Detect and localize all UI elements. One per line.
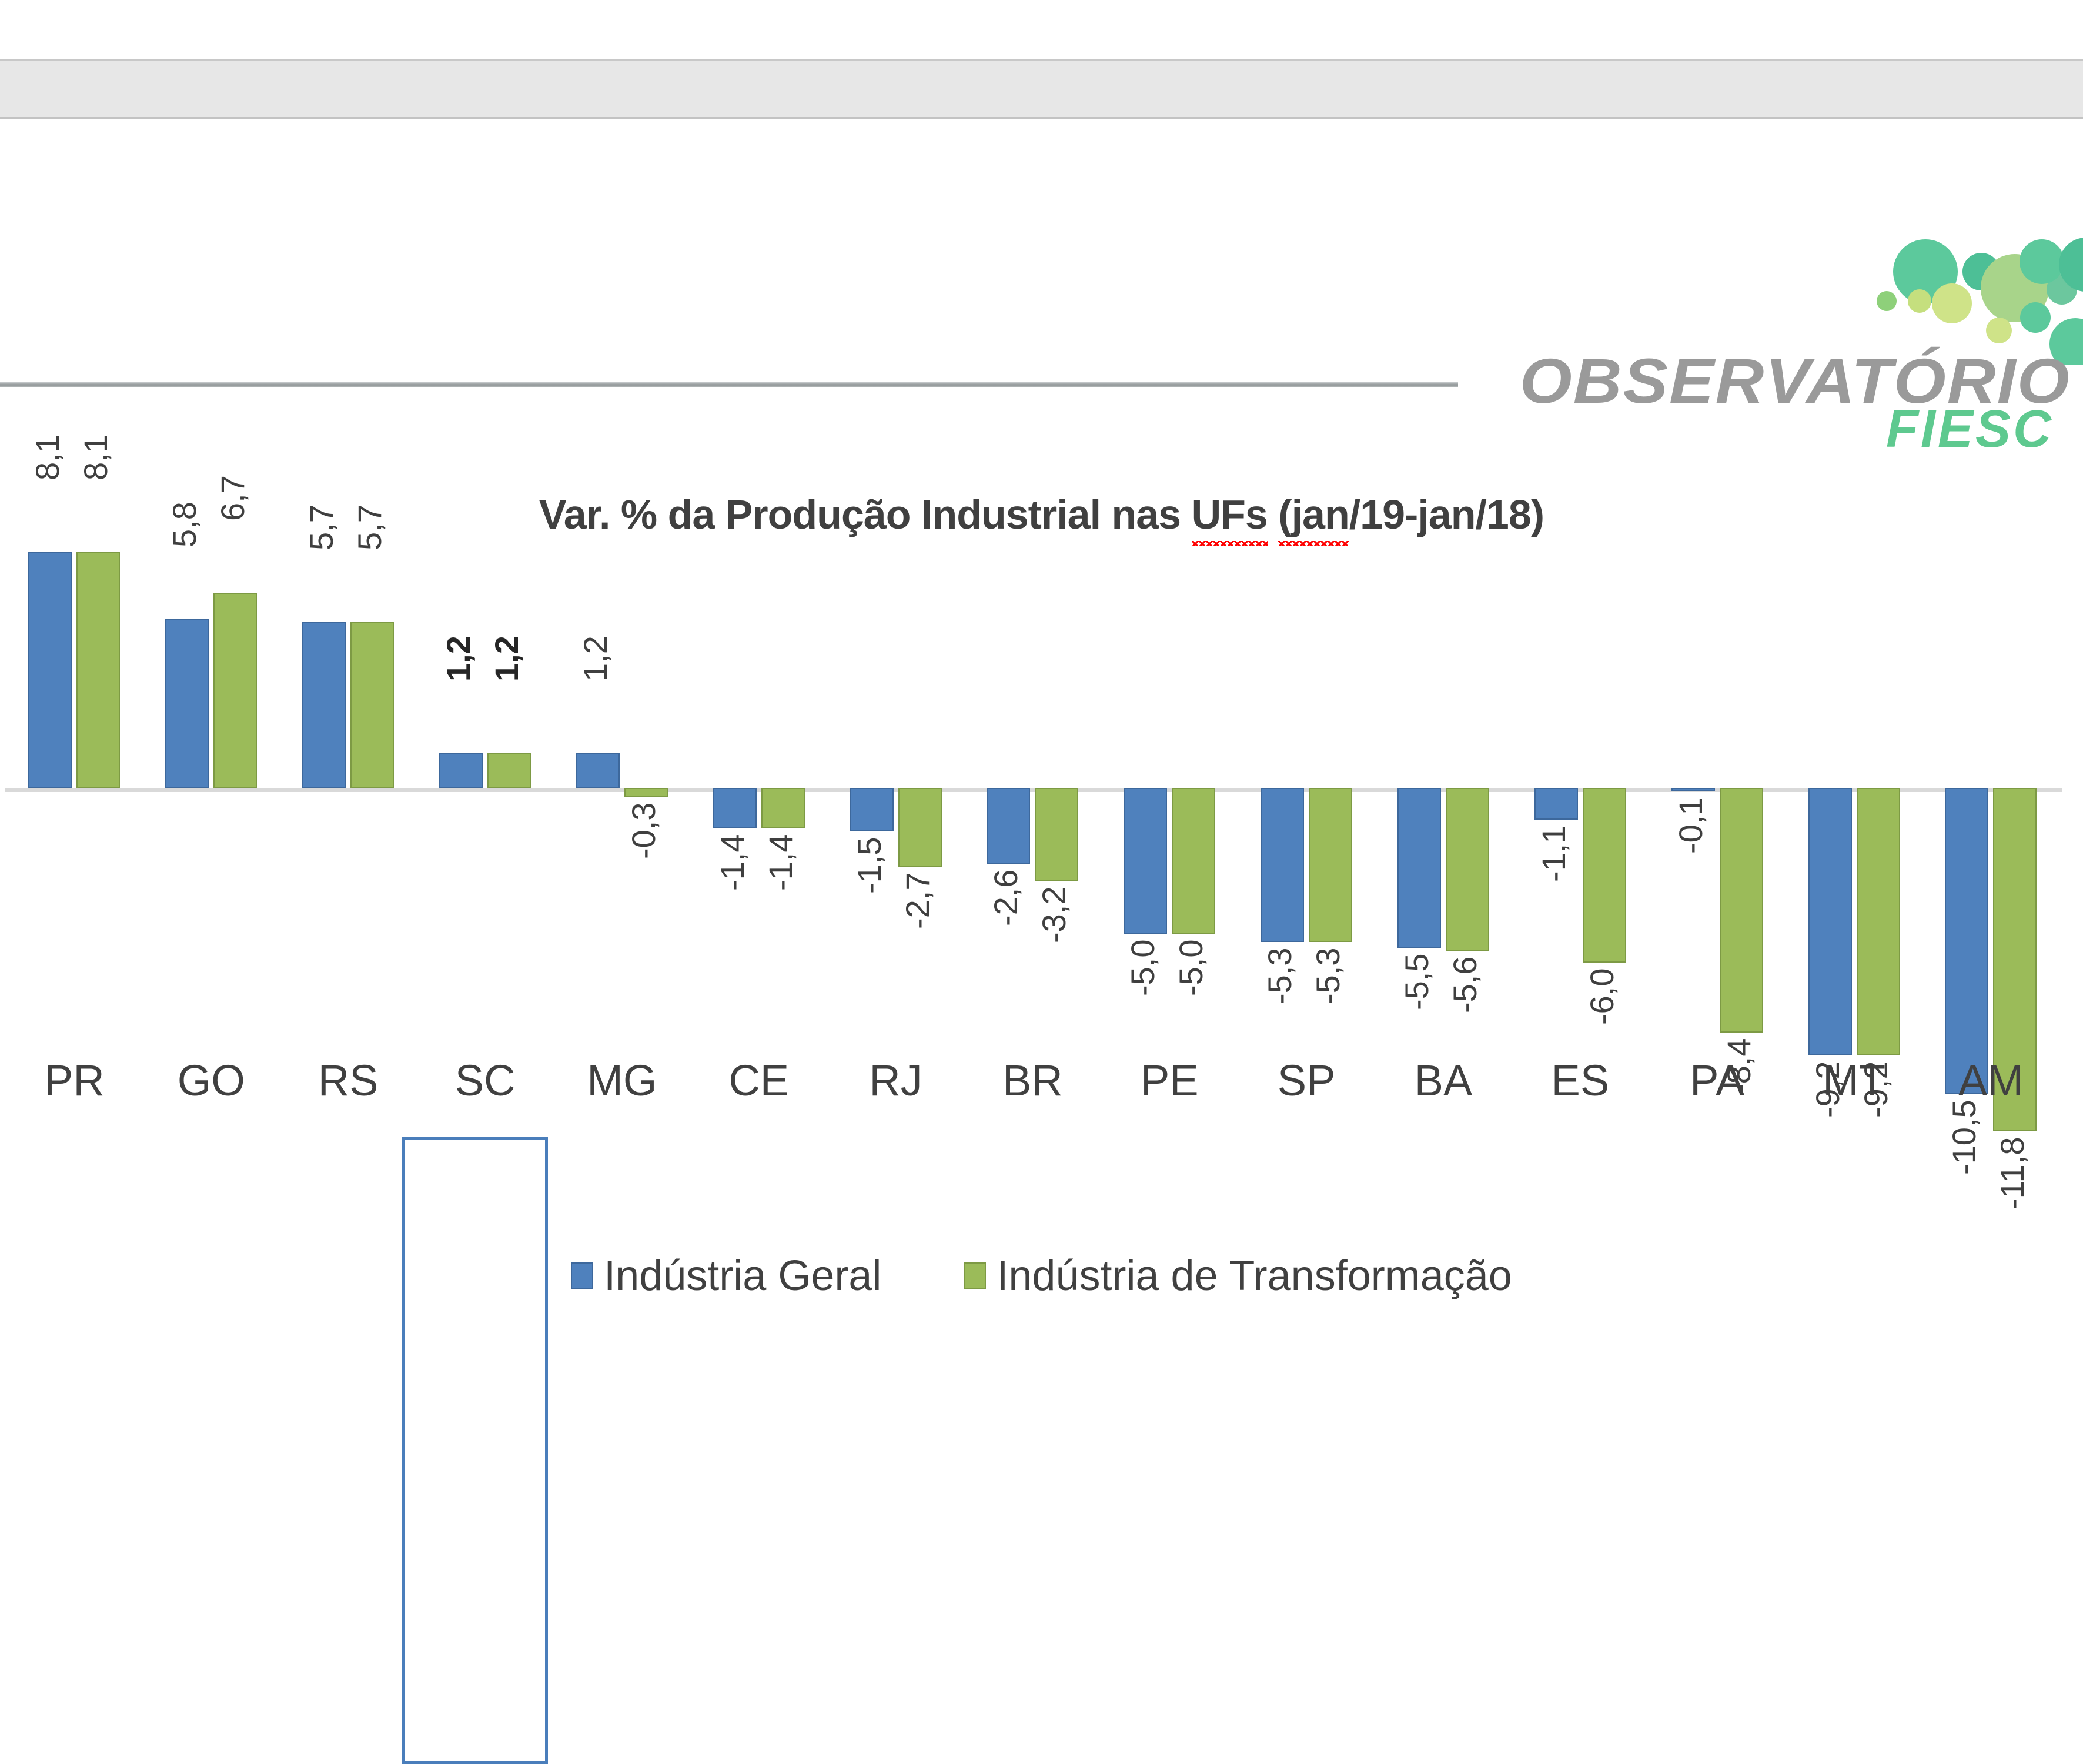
bar-group-ba: -5,5-5,6BA [1375, 559, 1512, 1205]
bar-mg-geral[interactable] [576, 753, 620, 788]
chart-title-misspelling-jan: (jan [1278, 491, 1349, 538]
bar-group-mt: -9,2-9,2MT [1786, 559, 1922, 1205]
bar-group-bars: -5,5-5,6 [1375, 559, 1512, 1205]
legend-swatch-icon [571, 1262, 593, 1289]
bar-wrapper: -6,0 [1583, 559, 1626, 1205]
category-label-mg: MG [553, 1055, 690, 1105]
chart-plot-area: 8,18,1PR5,86,7GO5,75,7RS1,21,2SC1,2-0,3M… [0, 559, 2083, 1205]
bar-pe-geral[interactable] [1124, 788, 1167, 934]
bar-sp-transformacao[interactable] [1309, 788, 1352, 942]
bar-wrapper: -11,8 [1993, 559, 2037, 1205]
bar-wrapper: -0,3 [624, 559, 668, 1205]
bar-sc-transformacao[interactable] [487, 753, 531, 788]
bar-rj-transformacao[interactable] [898, 788, 942, 867]
bar-go-geral[interactable] [165, 619, 209, 788]
bar-value-label: -5,3 [1261, 948, 1304, 1060]
logo-dot-cluster-icon [1399, 229, 2083, 365]
bar-wrapper: -5,5 [1397, 559, 1441, 1205]
bar-group-sp: -5,3-5,3SP [1238, 559, 1375, 1205]
category-label-pe: PE [1101, 1055, 1238, 1105]
bar-group-bars: 8,18,1 [6, 559, 143, 1205]
legend-label: Indústria de Transformação [997, 1252, 1512, 1300]
bar-value-label: -0,1 [1671, 797, 1715, 909]
bar-group-bars: 1,21,2 [417, 559, 554, 1205]
category-label-sp: SP [1238, 1055, 1375, 1105]
category-label-pr: PR [6, 1055, 143, 1105]
bar-es-geral[interactable] [1534, 788, 1578, 820]
bar-group-bars: -9,2-9,2 [1786, 559, 1922, 1205]
bar-group-go: 5,86,7GO [143, 559, 280, 1205]
bar-value-label: -1,4 [713, 834, 757, 946]
header-divider-rule [0, 382, 1458, 387]
category-label-rj: RJ [827, 1055, 964, 1105]
bar-mt-transformacao[interactable] [1857, 788, 1900, 1055]
bar-group-ce: -1,4-1,4CE [690, 559, 827, 1205]
category-label-rs: RS [280, 1055, 417, 1105]
chart-title-misspelling-ufs: UFs [1192, 491, 1268, 538]
bar-pr-transformacao[interactable] [76, 552, 120, 788]
bar-br-geral[interactable] [987, 788, 1030, 864]
bar-wrapper: -10,5 [1945, 559, 1988, 1205]
bar-pe-transformacao[interactable] [1172, 788, 1215, 934]
bar-rs-geral[interactable] [302, 622, 346, 788]
bar-value-label: 1,2 [439, 636, 483, 747]
category-label-go: GO [143, 1055, 280, 1105]
bar-value-label: -1,4 [761, 834, 805, 946]
bar-wrapper: -9,2 [1857, 559, 1900, 1205]
bar-wrapper: 8,1 [76, 559, 120, 1205]
bar-value-label: 1,2 [487, 636, 531, 747]
bar-group-bars: -5,0-5,0 [1101, 559, 1238, 1205]
bar-value-label: -2,7 [898, 873, 942, 984]
bar-value-label: -5,3 [1309, 948, 1352, 1060]
category-label-mt: MT [1786, 1055, 1922, 1105]
bar-wrapper: -2,7 [898, 559, 942, 1205]
legend-label: Indústria Geral [604, 1252, 881, 1300]
bar-group-pe: -5,0-5,0PE [1101, 559, 1238, 1205]
legend-swatch-icon [964, 1262, 986, 1289]
bar-value-label: -2,6 [987, 870, 1030, 981]
bar-group-bars: -5,3-5,3 [1238, 559, 1375, 1205]
bar-group-br: -2,6-3,2BR [964, 559, 1101, 1205]
bar-wrapper: 5,8 [165, 559, 209, 1205]
bar-wrapper: -5,3 [1309, 559, 1352, 1205]
category-label-sc: SC [417, 1055, 554, 1105]
bar-group-sc: 1,21,2SC [417, 559, 554, 1205]
bar-group-bars: 5,75,7 [280, 559, 417, 1205]
bar-mt-geral[interactable] [1808, 788, 1852, 1055]
bar-value-label: -5,5 [1397, 954, 1441, 1065]
bar-ba-geral[interactable] [1397, 788, 1441, 948]
bar-pa-geral[interactable] [1671, 788, 1715, 791]
bar-wrapper: -0,1 [1671, 559, 1715, 1205]
bar-pa-transformacao[interactable] [1720, 788, 1763, 1033]
bar-ce-transformacao[interactable] [761, 788, 805, 828]
bar-wrapper: -5,3 [1261, 559, 1304, 1205]
chart-title-part-middle [1268, 492, 1278, 537]
bar-value-label: -1,5 [850, 837, 894, 949]
category-label-am: AM [1922, 1055, 2059, 1105]
bar-mg-transformacao[interactable] [624, 788, 668, 797]
bar-pr-geral[interactable] [28, 552, 72, 788]
bar-rj-geral[interactable] [850, 788, 894, 831]
legend-item-industria-geral[interactable]: Indústria Geral [571, 1252, 881, 1300]
bar-wrapper: 1,2 [576, 559, 620, 1205]
bar-wrapper: -3,2 [1035, 559, 1078, 1205]
bar-value-label: -10,5 [1945, 1100, 1988, 1211]
bar-group-es: -1,1-6,0ES [1512, 559, 1649, 1205]
legend-item-industria-transformacao[interactable]: Indústria de Transformação [964, 1252, 1512, 1300]
bar-value-label: -11,8 [1993, 1137, 2037, 1249]
bar-value-label: 5,8 [165, 502, 209, 613]
bar-value-label: 1,2 [576, 636, 620, 747]
bar-value-label: -5,0 [1172, 940, 1215, 1051]
bar-go-transformacao[interactable] [213, 593, 257, 788]
logo-subtitle: FIESC [1399, 406, 2083, 453]
category-label-ce: CE [690, 1055, 827, 1105]
bar-group-pa: -0,1-8,4PA [1649, 559, 1786, 1205]
bar-group-bars: -10,5-11,8 [1922, 559, 2059, 1205]
bar-wrapper: -2,6 [987, 559, 1030, 1205]
bar-wrapper: 1,2 [487, 559, 531, 1205]
category-label-ba: BA [1375, 1055, 1512, 1105]
bar-group-rj: -1,5-2,7RJ [827, 559, 964, 1205]
bar-wrapper: -5,0 [1172, 559, 1215, 1205]
category-label-pa: PA [1649, 1055, 1786, 1105]
bar-wrapper: 5,7 [350, 559, 394, 1205]
bar-wrapper: 5,7 [302, 559, 346, 1205]
bar-wrapper: 6,7 [213, 559, 257, 1205]
bar-wrapper: -1,5 [850, 559, 894, 1205]
bar-group-bars: -1,5-2,7 [827, 559, 964, 1205]
bar-sp-geral[interactable] [1261, 788, 1304, 942]
bar-value-label: -3,2 [1035, 887, 1078, 998]
bar-group-bars: -1,4-1,4 [690, 559, 827, 1205]
bar-br-transformacao[interactable] [1035, 788, 1078, 881]
bar-value-label: -5,6 [1446, 957, 1489, 1068]
bar-ce-geral[interactable] [713, 788, 757, 828]
bar-group-rs: 5,75,7RS [280, 559, 417, 1205]
bar-value-label: -1,1 [1534, 826, 1578, 937]
bar-am-geral[interactable] [1945, 788, 1988, 1094]
bar-wrapper: -1,1 [1534, 559, 1578, 1205]
bar-group-pr: 8,18,1PR [6, 559, 143, 1205]
bar-group-am: -10,5-11,8AM [1922, 559, 2059, 1205]
bar-sc-geral[interactable] [439, 753, 483, 788]
observatorio-fiesc-logo: OBSERVATÓRIO FIESC [1399, 229, 2083, 453]
bar-group-bars: -1,1-6,0 [1512, 559, 1649, 1205]
bar-wrapper: -5,6 [1446, 559, 1489, 1205]
window-top-band [0, 59, 2083, 119]
bar-wrapper: -1,4 [761, 559, 805, 1205]
sc-highlight-box [402, 1137, 548, 1764]
bar-ba-transformacao[interactable] [1446, 788, 1489, 951]
bar-wrapper: -1,4 [713, 559, 757, 1205]
bar-group-bars: 1,2-0,3 [553, 559, 690, 1205]
chart-title-part-before: Var. % da Produção Industrial nas [539, 492, 1192, 537]
bar-wrapper: -5,0 [1124, 559, 1167, 1205]
chart-title-part-after: /19-jan/18) [1349, 492, 1544, 537]
bar-es-transformacao[interactable] [1583, 788, 1626, 963]
bar-wrapper: -9,2 [1808, 559, 1852, 1205]
bar-wrapper: 8,1 [28, 559, 72, 1205]
bar-wrapper: -8,4 [1720, 559, 1763, 1205]
bar-groups: 8,18,1PR5,86,7GO5,75,7RS1,21,2SC1,2-0,3M… [0, 559, 2083, 1205]
bar-value-label: 8,1 [76, 435, 120, 546]
bar-group-bars: 5,86,7 [143, 559, 280, 1205]
bar-wrapper: 1,2 [439, 559, 483, 1205]
category-label-br: BR [964, 1055, 1101, 1105]
bar-group-bars: -0,1-8,4 [1649, 559, 1786, 1205]
bar-value-label: 5,7 [350, 505, 394, 616]
bar-value-label: -5,0 [1124, 940, 1167, 1051]
bar-value-label: -0,3 [624, 803, 668, 914]
bar-value-label: 8,1 [28, 435, 72, 546]
bar-group-bars: -2,6-3,2 [964, 559, 1101, 1205]
bar-value-label: 5,7 [302, 505, 346, 616]
bar-value-label: 6,7 [213, 475, 257, 587]
category-label-es: ES [1512, 1055, 1649, 1105]
bar-rs-transformacao[interactable] [350, 622, 394, 788]
bar-group-mg: 1,2-0,3MG [553, 559, 690, 1205]
chart-legend: Indústria GeralIndústria de Transformaçã… [0, 1244, 2083, 1308]
